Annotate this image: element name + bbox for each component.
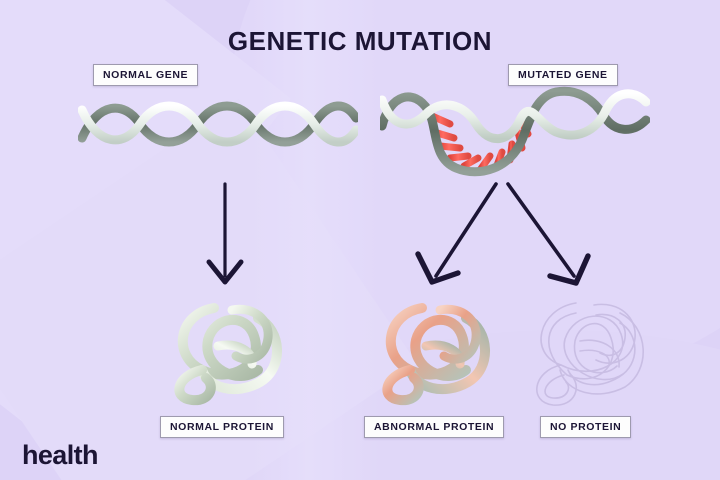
- label-normal-protein: NORMAL PROTEIN: [160, 416, 284, 438]
- label-mutated-gene: MUTATED GENE: [508, 64, 618, 86]
- dna-double-helix-mutated-icon: [380, 80, 650, 190]
- arrow-branching-down-icon: [410, 180, 610, 295]
- label-no-protein: NO PROTEIN: [540, 416, 631, 438]
- page-title: GENETIC MUTATION: [0, 26, 720, 57]
- dna-double-helix-icon: [78, 84, 358, 164]
- arrow-down-icon: [180, 182, 270, 292]
- label-normal-gene: NORMAL GENE: [93, 64, 198, 86]
- protein-knot-outline-icon: [520, 290, 670, 412]
- brand-logo: health: [22, 440, 98, 471]
- infographic-canvas: GENETIC MUTATION: [0, 0, 720, 480]
- label-abnormal-protein: ABNORMAL PROTEIN: [364, 416, 504, 438]
- protein-knot-icon: [158, 290, 308, 412]
- protein-knot-abnormal-icon: [366, 290, 516, 412]
